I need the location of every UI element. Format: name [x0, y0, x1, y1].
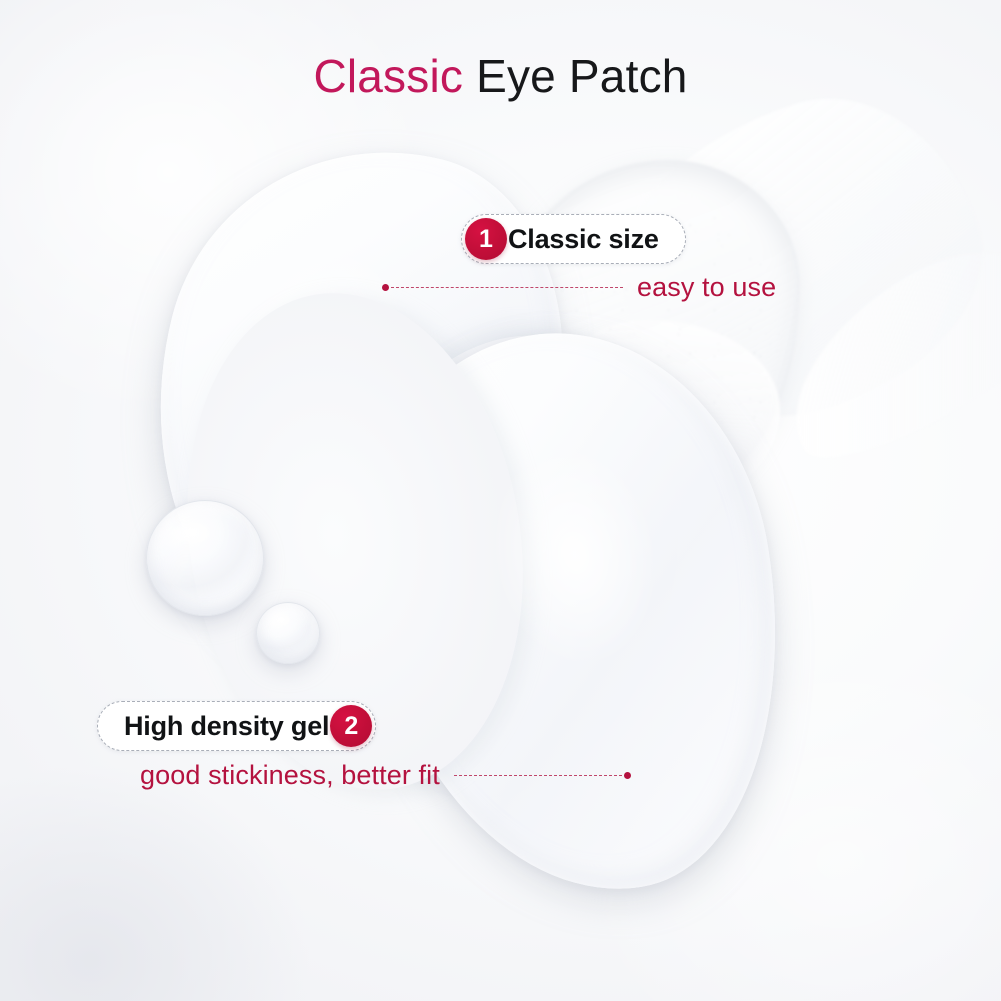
- callout-2: High density gel 2: [97, 701, 376, 751]
- page-title: Classic Eye Patch: [0, 46, 1001, 106]
- callout-2-subline: good stickiness, better fit: [140, 760, 631, 791]
- product-infographic: Classic Eye Patch 1 Classic size easy to…: [0, 0, 1001, 1001]
- callout-1-subline: easy to use: [382, 272, 776, 303]
- eye-patch-lower-right: [331, 304, 818, 922]
- callout-2-leader-dot: [624, 772, 631, 779]
- callout-2-label: High density gel: [124, 711, 329, 742]
- callout-1: 1 Classic size: [461, 214, 686, 264]
- callout-2-number-badge: 2: [330, 705, 372, 747]
- callout-1-leader-line: [391, 287, 623, 289]
- callout-1-caption: easy to use: [637, 272, 776, 303]
- page-title-rest: Eye Patch: [463, 50, 687, 102]
- callout-1-pill: 1 Classic size: [461, 214, 686, 264]
- gel-droplet-large: [146, 500, 264, 616]
- callout-2-pill: High density gel 2: [97, 701, 376, 751]
- page-title-accent: Classic: [313, 50, 463, 102]
- callout-2-leader-line: [454, 775, 622, 777]
- cream-swirl-tail: [755, 214, 1001, 485]
- gel-droplet-small: [256, 602, 320, 664]
- callout-1-number-badge: 1: [465, 218, 507, 260]
- callout-1-leader-dot: [382, 284, 389, 291]
- callout-2-caption: good stickiness, better fit: [140, 760, 440, 791]
- callout-1-label: Classic size: [508, 224, 659, 255]
